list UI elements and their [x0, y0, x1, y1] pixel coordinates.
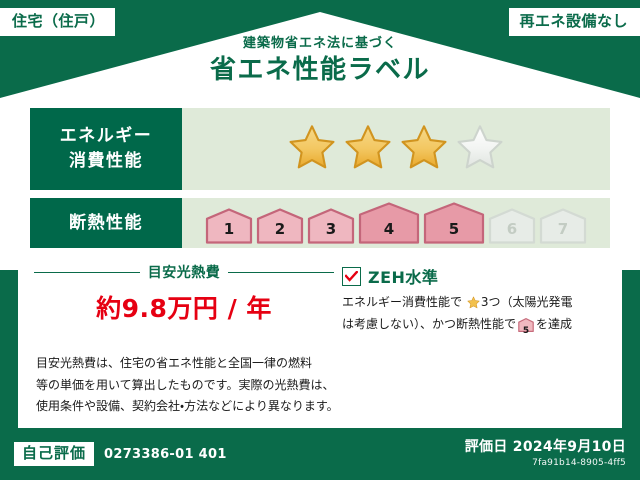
energy-performance-stars [182, 108, 610, 190]
estimated-cost-label: 目安光熱費 [148, 262, 221, 282]
building-type-tag: 住宅（住戸） [0, 8, 115, 36]
house-grade-filled: 2 [256, 208, 304, 244]
label-body-panel: エネルギー 消費性能 断熱性能 1234567 目安光熱費 [18, 98, 622, 428]
energy-performance-label-box: エネルギー 消費性能 [30, 108, 182, 190]
house-grade-filled: 3 [307, 208, 355, 244]
estimated-cost-block: 目安光熱費 約9.8万円 / 年 [34, 262, 334, 337]
energy-performance-row: エネルギー 消費性能 [18, 98, 622, 190]
rule-left [34, 272, 140, 273]
energy-performance-label: 住宅（住戸） 再エネ設備なし 建築物省エネ法に基づく 省エネ性能ラベル エネルギ… [0, 0, 640, 480]
inline-star-icon [463, 298, 480, 312]
insulation-performance-row: 断熱性能 1234567 [18, 198, 622, 248]
energy-label-line2: 消費性能 [69, 149, 143, 174]
disclaimer-line-3: 使用条件や設備、契約会社・方法などにより異なります。 [36, 396, 604, 418]
house-grade-filled: 4 [358, 202, 420, 244]
label-title-block: 建築物省エネ法に基づく 省エネ性能ラベル [0, 36, 640, 86]
star-icon-empty [457, 124, 503, 174]
energy-label-line1: エネルギー [60, 124, 153, 149]
disclaimer-text: 目安光熱費は、住宅の省エネ性能と全国一律の燃料 等の単価を用いて算出したものです… [18, 337, 622, 418]
cost-and-zeh-area: 目安光熱費 約9.8万円 / 年 ZEH水準 エネルギー消費性能で [18, 248, 622, 337]
disclaimer-line-1: 目安光熱費は、住宅の省エネ性能と全国一律の燃料 [36, 353, 604, 375]
house-grade-filled: 5 [423, 202, 485, 244]
zeh-description: エネルギー消費性能で 3つ（太陽光発電 は考慮しない）、かつ断熱性能で 5 を達… [342, 293, 606, 337]
star-rating [289, 124, 503, 174]
star-icon-filled [345, 124, 391, 174]
house-grade-empty: 6 [488, 208, 536, 244]
rule-right [228, 272, 334, 273]
evaluation-type-tag: 自己評価 [14, 442, 94, 466]
inline-house-number: 5 [518, 327, 534, 336]
insulation-label: 断熱性能 [69, 211, 143, 236]
disclaimer-line-2: 等の単価を用いて算出したものです。実際の光熱費は、 [36, 375, 604, 397]
zeh-title: ZEH水準 [368, 264, 438, 288]
evaluation-id: 0273386-01 401 [104, 447, 227, 462]
row-divider [18, 190, 622, 198]
zeh-block: ZEH水準 エネルギー消費性能で 3つ（太陽光発電 は考慮しない）、かつ断熱性能… [334, 262, 606, 337]
footer-left-group: 自己評価 0273386-01 401 [14, 442, 227, 466]
page-title: 省エネ性能ラベル [0, 55, 640, 86]
estimated-cost-value: 約9.8万円 / 年 [34, 289, 334, 325]
evaluation-date: 評価日 2024年9月10日 [465, 438, 626, 456]
footer-right-group: 評価日 2024年9月10日 7fa91b14-8905-4ff5 [465, 438, 626, 470]
star-icon-filled [401, 124, 447, 174]
zeh-desc-part1: エネルギー消費性能で [342, 295, 462, 309]
zeh-desc-stars: 3つ（太陽光発電 [481, 295, 573, 309]
title-subtitle: 建築物省エネ法に基づく [0, 36, 640, 52]
house-grade-scale: 1234567 [205, 202, 587, 244]
zeh-desc-part2: は考慮しない）、かつ断熱性能で [342, 317, 516, 331]
zeh-heading: ZEH水準 [342, 264, 606, 288]
house-grade-filled: 1 [205, 208, 253, 244]
insulation-performance-label-box: 断熱性能 [30, 198, 182, 248]
star-icon-filled [289, 124, 335, 174]
zeh-checkbox [342, 267, 361, 286]
inline-house-icon: 5 [518, 318, 534, 338]
house-grade-empty: 7 [539, 208, 587, 244]
zeh-desc-part3: を達成 [536, 317, 572, 331]
label-footer: 自己評価 0273386-01 401 評価日 2024年9月10日 7fa91… [0, 428, 640, 480]
evaluation-hash: 7fa91b14-8905-4ff5 [465, 458, 626, 470]
estimated-cost-heading: 目安光熱費 [34, 262, 334, 282]
insulation-performance-grades: 1234567 [182, 198, 610, 248]
renewable-energy-tag: 再エネ設備なし [509, 8, 640, 36]
